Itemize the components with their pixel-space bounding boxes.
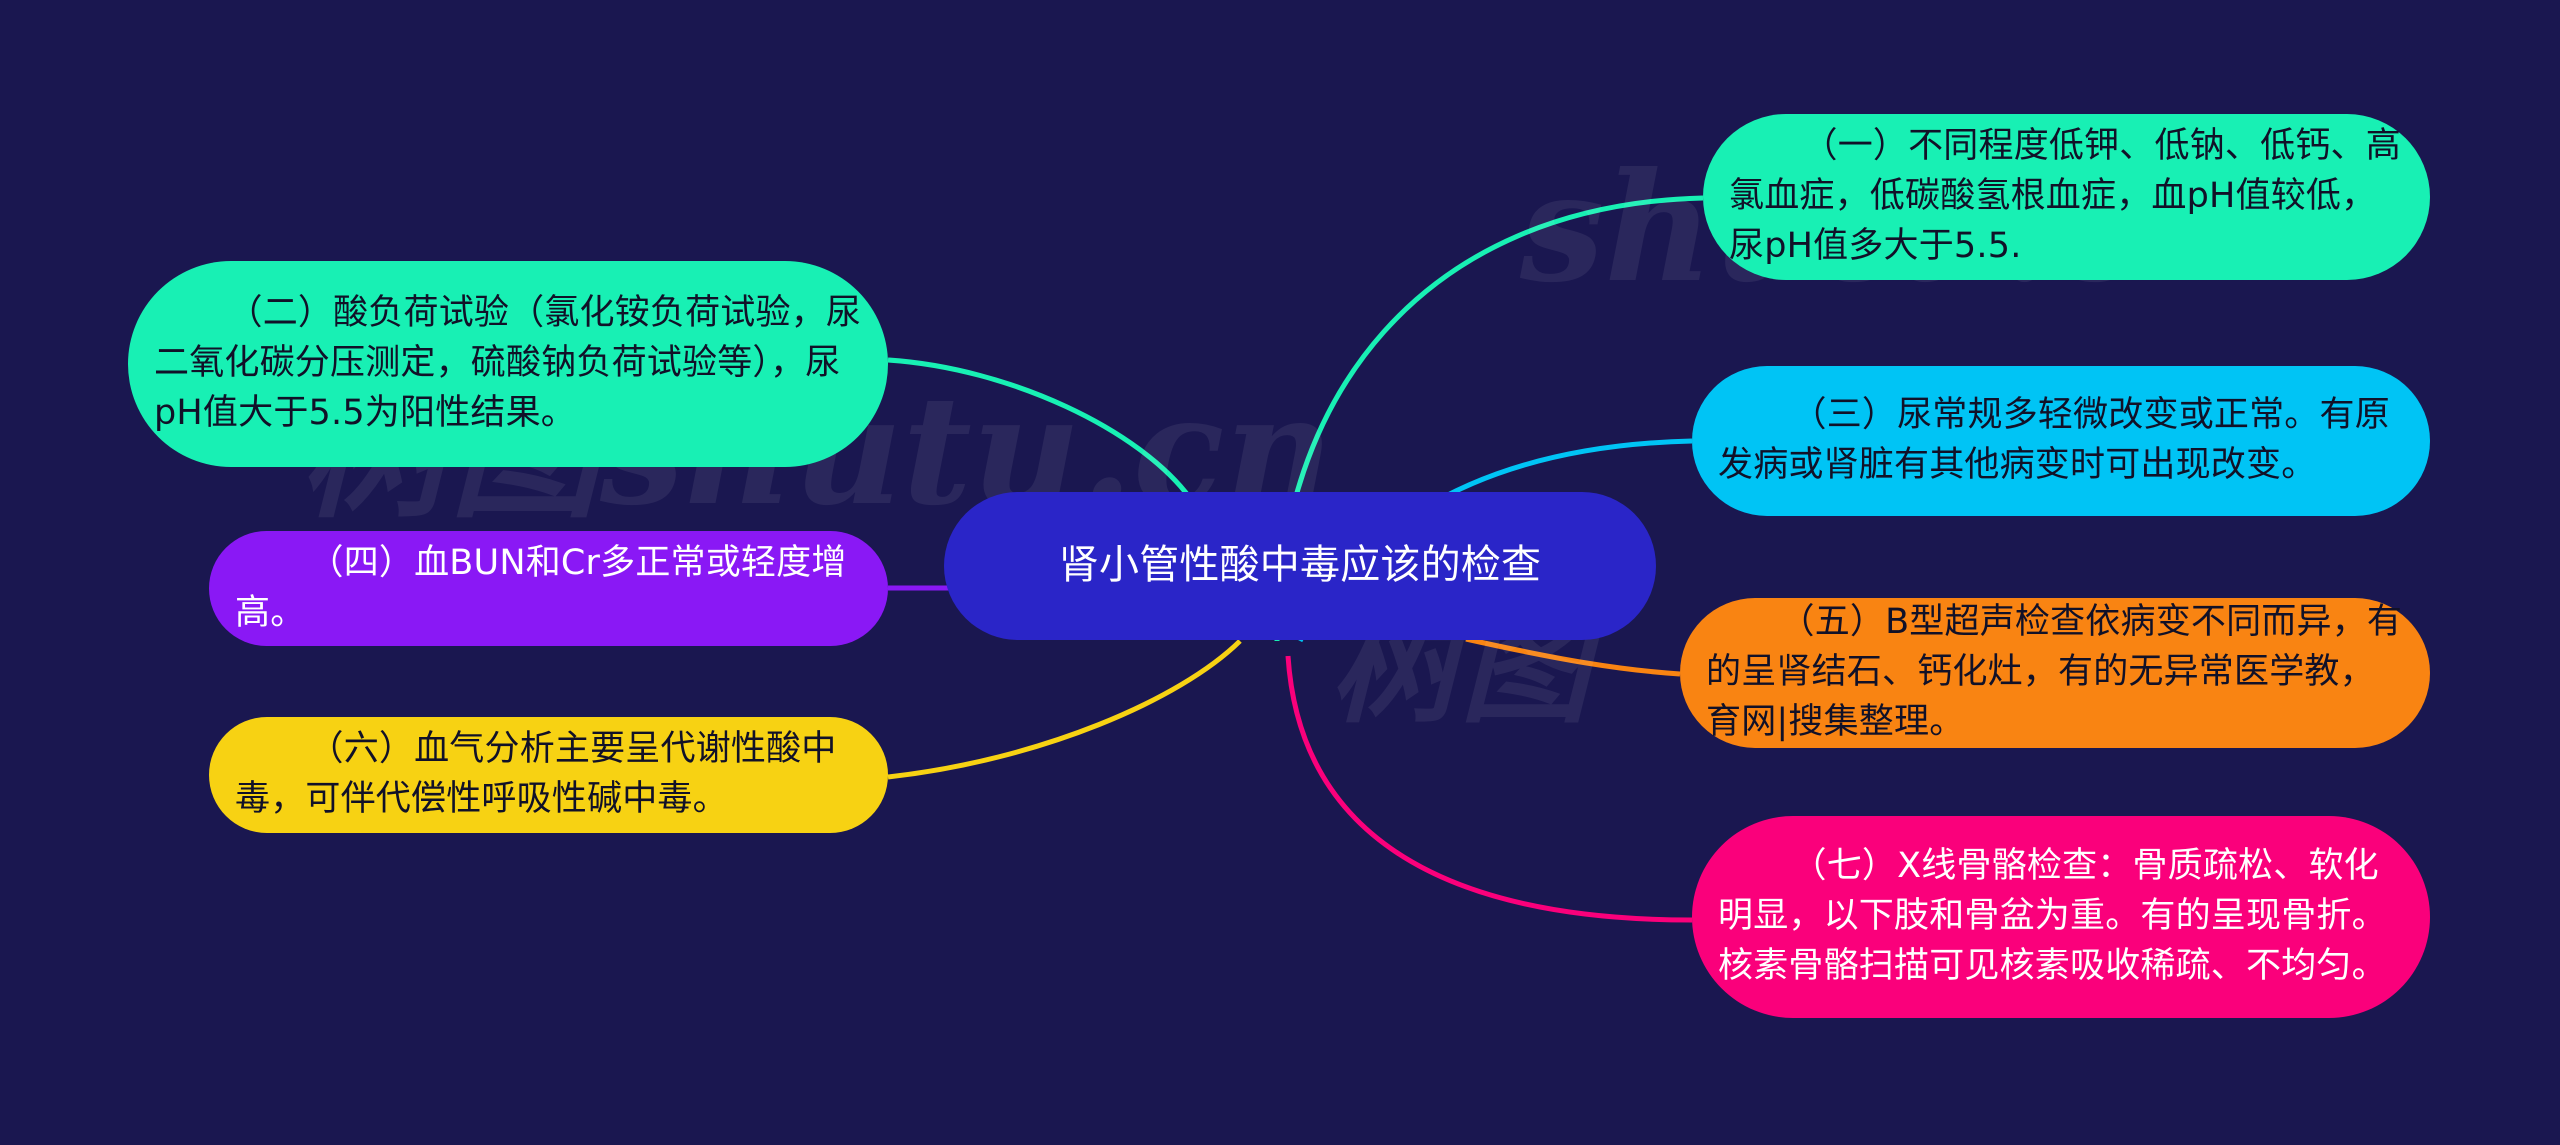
edge-to-branch-5 (1466, 639, 1680, 674)
mindmap-branch-node-5[interactable]: （五）B型超声检查依病变不同而异，有的呈肾结石、钙化灶，有的无异常医学教，育网|… (1680, 598, 2430, 748)
mindmap-branch-node-2[interactable]: （二）酸负荷试验（氯化铵负荷试验，尿二氧化碳分压测定，硫酸钠负荷试验等），尿pH… (128, 261, 888, 467)
mindmap-branch-node-1[interactable]: （一）不同程度低钾、低钠、低钙、高氯血症，低碳酸氢根血症，血pH值较低，尿pH值… (1703, 114, 2430, 280)
edge-to-branch-7 (1288, 656, 1692, 920)
branch-node-2-label: （二）酸负荷试验（氯化铵负荷试验，尿二氧化碳分压测定，硫酸钠负荷试验等），尿pH… (128, 289, 888, 438)
mindmap-canvas: 树图shutu.cn shutu.cn 树图 肾小管性酸中毒应该的检查 （一）不… (0, 0, 2560, 1145)
mindmap-branch-node-3[interactable]: （三）尿常规多轻微改变或正常。有原发病或肾脏有其他病变时可出现改变。 (1692, 366, 2430, 516)
mindmap-branch-node-6[interactable]: （六）血气分析主要呈代谢性酸中毒，可伴代偿性呼吸性碱中毒。 (209, 717, 888, 833)
branch-node-6-label: （六）血气分析主要呈代谢性酸中毒，可伴代偿性呼吸性碱中毒。 (209, 725, 888, 824)
branch-node-5-label: （五）B型超声检查依病变不同而异，有的呈肾结石、钙化灶，有的无异常医学教，育网|… (1680, 598, 2430, 747)
center-node-label: 肾小管性酸中毒应该的检查 (944, 538, 1656, 593)
edge-to-branch-6 (888, 641, 1240, 777)
mindmap-branch-node-7[interactable]: （七）X线骨骼检查：骨质疏松、软化明显，以下肢和骨盆为重。有的呈现骨折。核素骨骼… (1692, 816, 2430, 1018)
branch-node-4-label: （四）血BUN和Cr多正常或轻度增高。 (209, 539, 888, 638)
branch-node-3-label: （三）尿常规多轻微改变或正常。有原发病或肾脏有其他病变时可出现改变。 (1692, 391, 2430, 490)
mindmap-center-node[interactable]: 肾小管性酸中毒应该的检查 (944, 492, 1656, 640)
branch-node-1-label: （一）不同程度低钾、低钠、低钙、高氯血症，低碳酸氢根血症，血pH值较低，尿pH值… (1703, 122, 2430, 271)
edge-to-branch-2 (888, 360, 1190, 498)
branch-node-7-label: （七）X线骨骼检查：骨质疏松、软化明显，以下肢和骨盆为重。有的呈现骨折。核素骨骼… (1692, 842, 2430, 991)
mindmap-branch-node-4[interactable]: （四）血BUN和Cr多正常或轻度增高。 (209, 531, 888, 646)
